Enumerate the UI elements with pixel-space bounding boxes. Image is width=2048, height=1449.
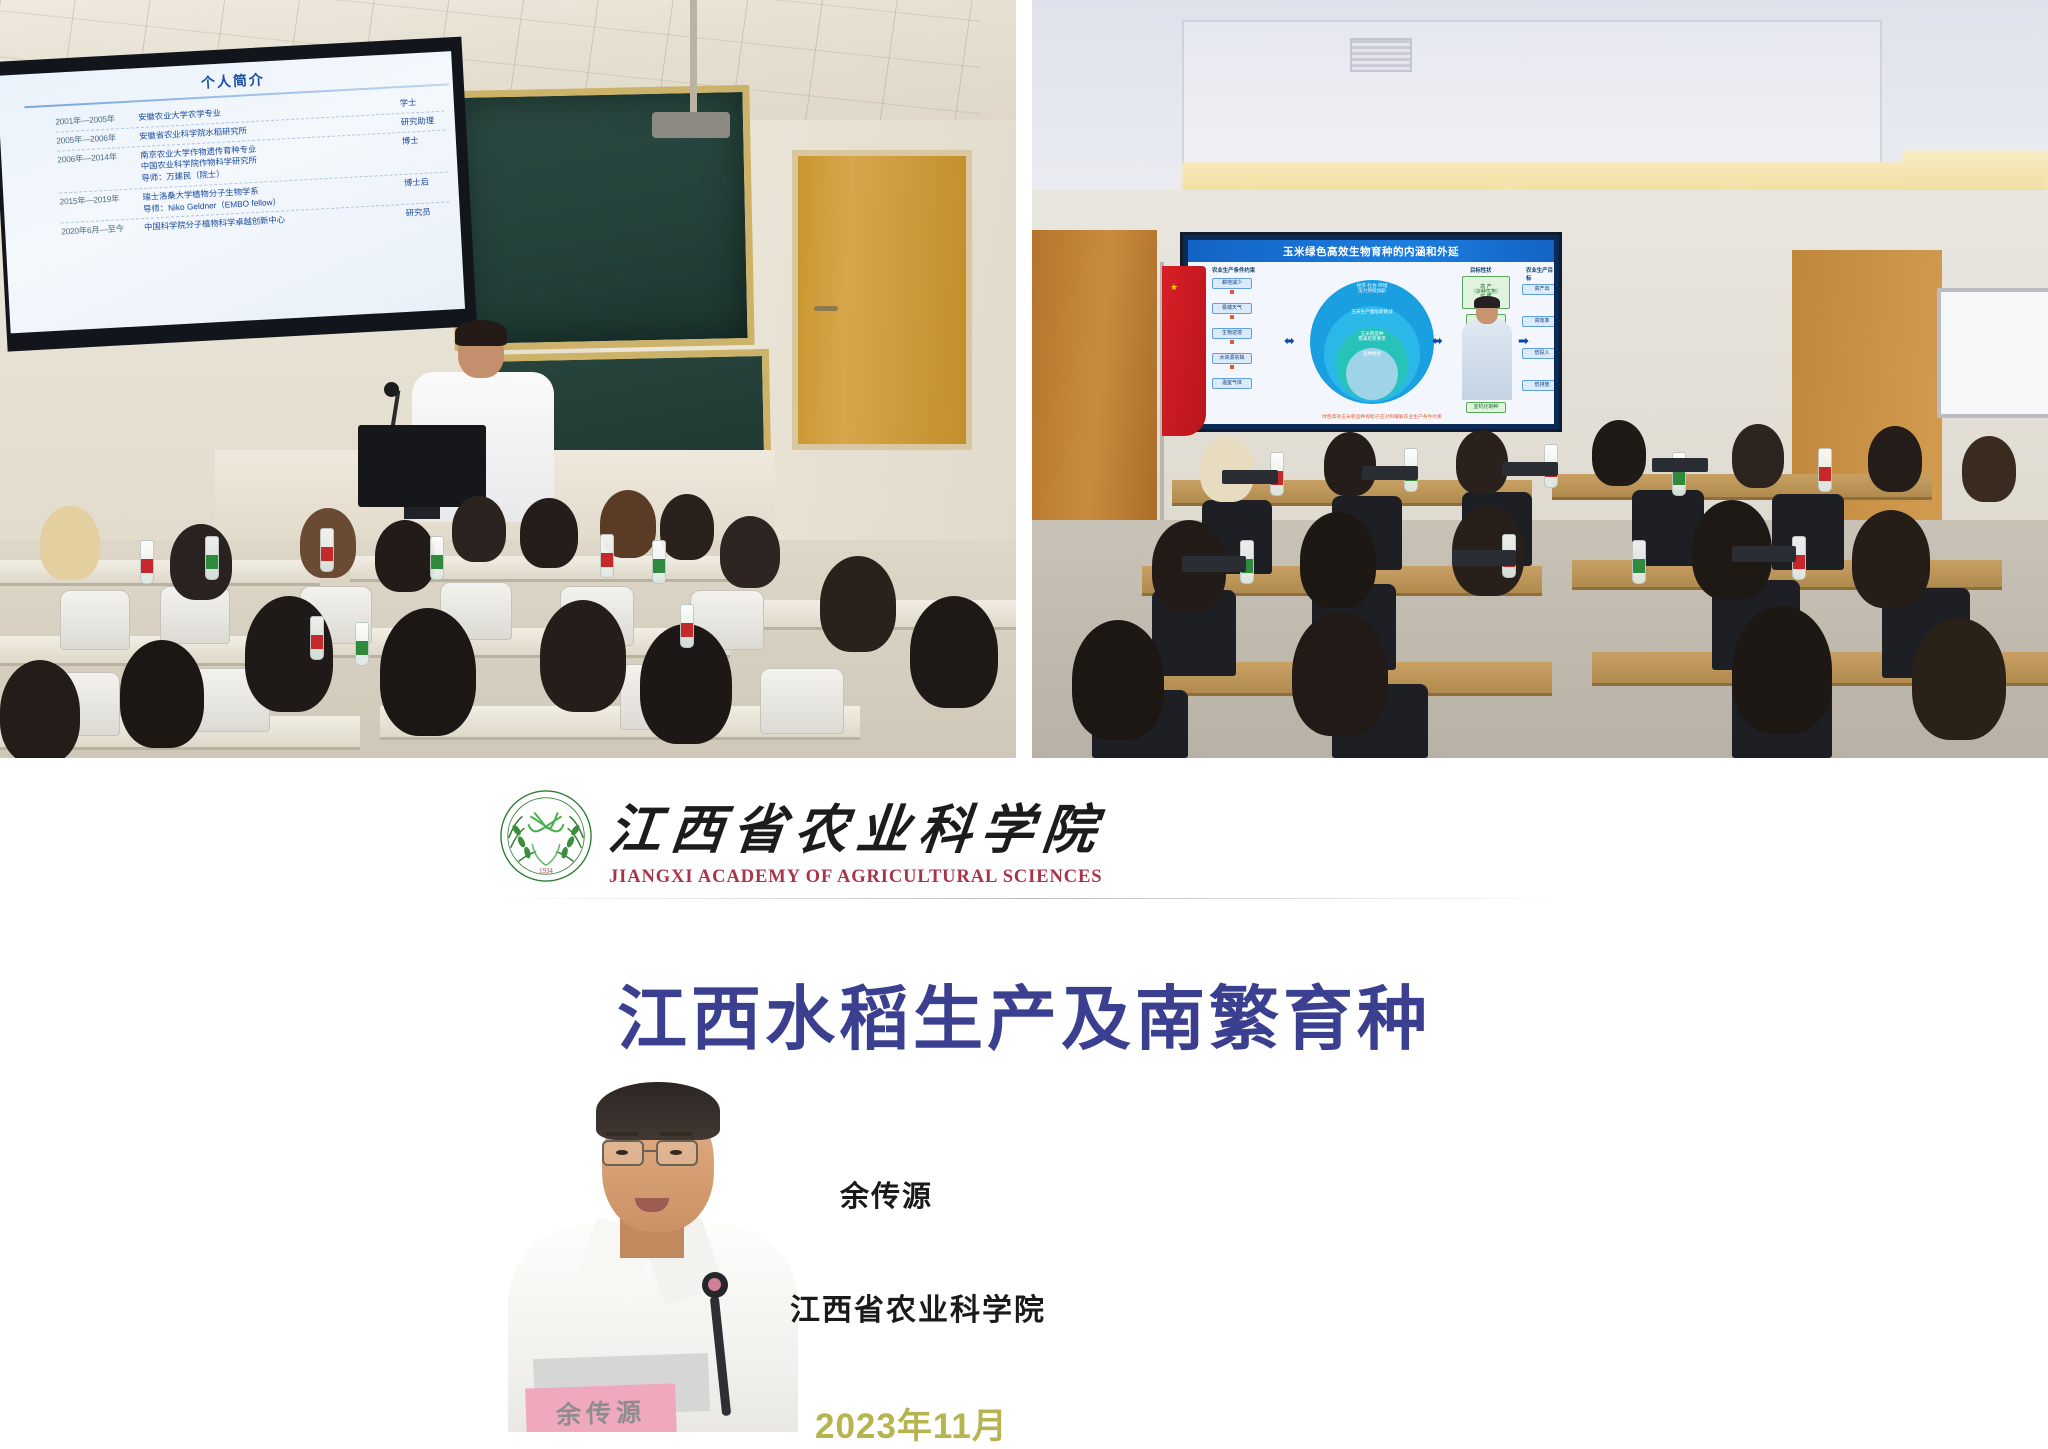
presenter-name: 余传源 [840,1173,1440,1215]
institution-logo: 1934 江西省农业科学院 JIANGXI ACADEMY OF AGRICUL… [497,782,1037,890]
slide-chip: 极端天气 [1212,303,1252,314]
audience-head [1962,436,2016,502]
laptop [1222,470,1278,484]
slide-chip: 温室气体 [1212,378,1252,389]
portrait-brow-right [660,1132,692,1136]
profile-row-years: 2001年—2005年 [55,113,130,129]
cove-light [1182,162,1922,192]
audience-head [1912,618,2006,740]
portrait-microphone-foam [708,1278,721,1291]
audience-head [1292,612,1388,736]
audience-head [375,520,435,592]
slide-footnote: 绿色高效玉米新品种有助于应对和缓解农业生产条件约束 [1232,413,1532,420]
svg-text:1934: 1934 [539,868,553,875]
conference-room-photo: 玉米绿色高效生物育种的内涵和外延 农业生产条件约束 耕地减少极端天气生物逆境水资… [1032,0,2048,758]
audience-head [1852,510,1930,608]
chip-connector-icon [1230,290,1234,294]
audience-head [820,556,896,652]
profile-row-degree: 博士后 [404,175,449,189]
door-handle-icon [814,306,838,311]
left-column-label: 农业生产条件约束 [1212,266,1255,274]
audience-head [1732,606,1832,734]
profile-row-years: 2015年—2019年 [59,192,134,208]
chip-connector-icon [1230,365,1234,369]
header-divider [490,898,1568,899]
audience-head [120,640,204,748]
arrow-left-icon: ⬌ [1284,334,1295,347]
portrait-brow-left [606,1132,638,1136]
water-bottle [600,534,614,578]
ceiling-recess [1182,20,1882,170]
speaker-body [1462,320,1512,400]
laptop [1502,462,1558,476]
slide-chip: 宜机化制种 [1466,402,1506,413]
audience-head [380,608,476,736]
chair [60,590,130,650]
door [792,150,972,450]
laptop [1362,466,1418,480]
audience-head [1200,436,1254,502]
presenter-organization: 江西省农业科学院 [790,1285,1490,1329]
chinese-flag-icon: ★ [1162,266,1206,436]
audience-head [1868,426,1922,492]
profile-rows: 2001年—2005年安徽农业大学农学专业学士2005年—2006年安徽省农业科… [55,93,450,242]
audience-head [170,524,232,600]
profile-row-years: 2020年6月—至今 [61,223,136,239]
podium-microphone-head [384,382,399,397]
portrait-glasses-bridge [644,1150,656,1152]
audience-head [1732,424,1784,488]
academy-emblem-icon: 1934 [497,787,595,885]
logo-wordmark: 江西省农业科学院 JIANGXI ACADEMY OF AGRICULTURAL… [609,784,1105,888]
laptop [1452,550,1516,566]
portrait-eye-right [670,1150,682,1155]
slide-chip: 水资源贫缺 [1212,353,1252,364]
lecturer-hair [455,320,507,346]
audience-head [520,498,578,568]
name-placard: 余传源 [525,1383,677,1432]
water-bottle [1818,448,1832,492]
water-bottle [430,536,444,580]
name-placard-text: 余传源 [555,1392,646,1431]
slide-chip: 低投入 [1522,348,1554,359]
audience-head [1072,620,1164,740]
water-bottle [1632,540,1646,584]
projection-screen: 个人简介 2001年—2005年安徽农业大学农学专业学士2005年—2006年安… [0,37,477,352]
laptop [1182,556,1246,572]
water-bottle [355,622,369,666]
portrait-eye-left [616,1150,628,1155]
audience-head [1324,432,1376,496]
arrow-to-goals-icon: ➡ [1518,334,1529,347]
podium-monitor [358,425,486,507]
audience-head [40,506,100,580]
lecture-hall-photo: 个人简介 2001年—2005年安徽农业大学农学专业学士2005年—2006年安… [0,0,1016,758]
page-title: 江西水稻生产及南繁育种 [0,963,2048,1064]
mid-column-label: 目标性状 [1470,266,1492,274]
chip-connector-icon [1230,340,1234,344]
projector [652,112,730,138]
audience-head [720,516,780,588]
slide-chip: 高产出 [1522,284,1554,295]
profile-row-years: 2006年—2014年 [57,150,132,166]
profile-slide: 个人简介 2001年—2005年安徽农业大学农学专业学士2005年—2006年安… [0,51,465,333]
arrow-right-icon: ⬌ [1432,334,1443,347]
profile-row-degree: 博士 [402,133,447,147]
audience-head [660,494,714,560]
water-bottle [140,540,154,584]
right-column-label: 农业生产目标 [1526,266,1554,282]
flag-star-icon: ★ [1170,282,1178,293]
water-bottle [310,616,324,660]
projector-arm [690,0,697,118]
laptop [1652,458,1708,472]
water-bottle [205,536,219,580]
slide-chip: 耕地减少 [1212,278,1252,289]
speaker-hair [1474,296,1500,308]
audience-head [452,496,506,562]
led-slide-title: 玉米绿色高效生物育种的内涵和外延 [1188,240,1554,262]
audience-head [540,600,626,712]
audience-head [1592,420,1646,486]
audience-head [910,596,998,708]
water-bottle [320,528,334,572]
profile-row-degree: 研究助理 [401,114,446,128]
audience-head [0,660,80,758]
air-vent-icon [1350,38,1412,72]
slide-chip: 高效率 [1522,316,1554,327]
profile-row-years: 2005年—2006年 [56,131,131,147]
water-bottle [680,604,694,648]
slide-chip: 低排放 [1522,380,1554,391]
chair [760,668,844,734]
title-slide: 1934 江西省农业科学院 JIANGXI ACADEMY OF AGRICUL… [0,758,2048,1432]
logo-english-name: JIANGXI ACADEMY OF AGRICULTURAL SCIENCES [609,867,1105,888]
audience-head [1456,430,1508,494]
ring-inner: 品种性状 [1346,348,1398,400]
logo-chinese-name: 江西省农业科学院 [605,788,1109,864]
slide-chip: 生物逆境 [1212,328,1252,339]
audience-head [1300,512,1376,608]
whiteboard [1937,288,2048,418]
laptop [1732,546,1796,562]
profile-row-degree: 学士 [400,96,445,110]
water-bottle [652,540,666,584]
profile-row-degree: 研究员 [406,206,451,220]
presenter-portrait: 余传源 [480,1056,810,1432]
photo-strip: 个人简介 2001年—2005年安徽农业大学农学专业学士2005年—2006年安… [0,0,2048,758]
presentation-date: 2023年11月 [815,1398,1515,1449]
chip-connector-icon [1230,315,1234,319]
